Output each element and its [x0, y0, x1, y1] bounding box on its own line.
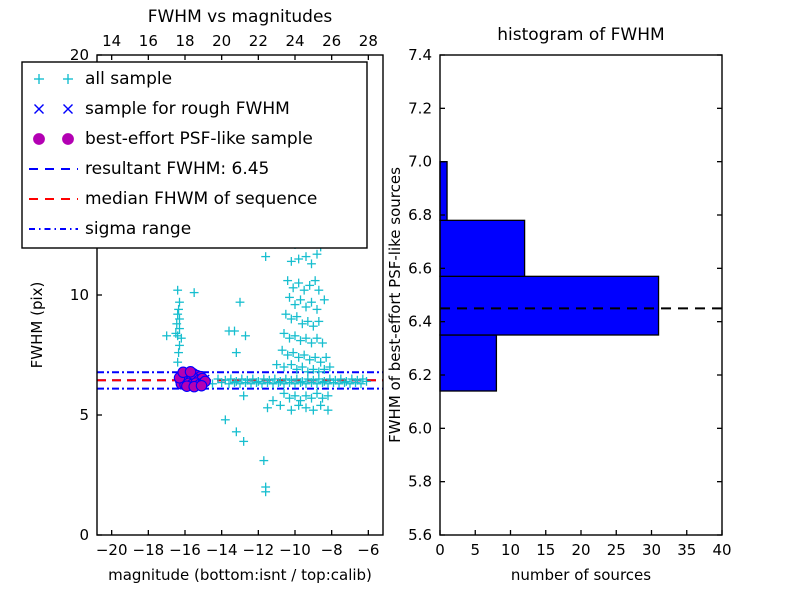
- left-top-xtick-label: 16: [139, 32, 158, 50]
- left-top-xtick-label: 14: [102, 32, 121, 50]
- right-xtick-label: 40: [712, 541, 731, 559]
- legend-item-label: best-effort PSF-like sample: [85, 129, 313, 149]
- marker-plus: [239, 391, 248, 400]
- legend-item-label: sample for rough FWHM: [85, 99, 290, 119]
- marker-plus: [175, 341, 184, 350]
- right-yaxis-label: FWHM of best-effort PSF-like sources: [386, 167, 404, 443]
- left-top-xtick-label: 20: [212, 32, 231, 50]
- right-ytick-label: 6.6: [408, 259, 432, 277]
- marker-plus: [318, 394, 327, 403]
- marker-circle: [185, 367, 195, 377]
- left-plot-area: [97, 207, 383, 497]
- left-xtick-label: −10: [279, 541, 311, 559]
- left-ytick-label: 10: [70, 286, 89, 304]
- marker-plus: [294, 401, 303, 410]
- right-ytick-label: 5.6: [408, 526, 432, 544]
- marker-plus: [241, 331, 250, 340]
- marker-plus: [287, 315, 296, 324]
- matplotlib-figure: FWHM vs magnitudes−20−18−16−14−12−10−8−6…: [0, 0, 800, 600]
- marker-plus: [296, 295, 305, 304]
- marker-plus: [322, 353, 331, 362]
- right-ytick-label: 5.8: [408, 473, 432, 491]
- legend-item-label: all sample: [85, 69, 172, 89]
- marker-plus: [302, 334, 311, 343]
- marker-plus: [302, 391, 311, 400]
- marker-plus: [261, 252, 270, 261]
- marker-plus: [259, 456, 268, 465]
- legend-item-label: median FHWM of sequence: [85, 189, 317, 209]
- right-ytick-label: 7.2: [408, 99, 432, 117]
- left-xtick-label: −6: [357, 541, 379, 559]
- series-best-effort-psf-like-sample: [174, 367, 210, 392]
- marker-plus: [285, 334, 294, 343]
- right-panel-title: histogram of FWHM: [497, 25, 664, 45]
- left-xtick-label: −16: [169, 541, 201, 559]
- legend-marker-circle: [63, 134, 74, 145]
- marker-plus: [272, 360, 281, 369]
- marker-circle: [196, 381, 206, 391]
- marker-plus: [287, 257, 296, 266]
- figure-canvas: FWHM vs magnitudes−20−18−16−14−12−10−8−6…: [0, 0, 800, 600]
- marker-plus: [296, 396, 305, 405]
- legend-item-label: sigma range: [85, 219, 191, 239]
- right-xtick-label: 10: [501, 541, 520, 559]
- marker-plus: [285, 293, 294, 302]
- marker-plus: [291, 331, 300, 340]
- marker-plus: [280, 329, 289, 338]
- marker-plus: [302, 303, 311, 312]
- left-xaxis-label: magnitude (bottom:isnt / top:calib): [108, 566, 372, 584]
- legend-marker-circle: [34, 134, 45, 145]
- marker-plus: [291, 300, 300, 309]
- marker-plus: [283, 351, 292, 360]
- marker-plus: [307, 298, 316, 307]
- left-yaxis-label: FWHM (pix): [28, 282, 46, 369]
- marker-plus: [307, 339, 316, 348]
- marker-plus: [190, 288, 199, 297]
- marker-plus: [324, 391, 333, 400]
- right-xtick-label: 15: [536, 541, 555, 559]
- marker-plus: [303, 317, 312, 326]
- marker-plus: [232, 427, 241, 436]
- marker-plus: [298, 363, 307, 372]
- marker-plus: [307, 394, 316, 403]
- right-ytick-label: 7.4: [408, 46, 432, 64]
- marker-plus: [307, 259, 316, 268]
- left-xtick-label: −12: [243, 541, 275, 559]
- right-xtick-label: 20: [571, 541, 590, 559]
- left-top-xtick-label: 26: [322, 32, 341, 50]
- marker-plus: [298, 319, 307, 328]
- left-top-xtick-label: 24: [285, 32, 304, 50]
- right-xtick-label: 5: [470, 541, 480, 559]
- right-xtick-label: 30: [642, 541, 661, 559]
- left-ytick-label: 5: [79, 406, 89, 424]
- legend: all samplesample for rough FWHMbest-effo…: [22, 62, 367, 248]
- right-xtick-label: 0: [435, 541, 445, 559]
- marker-plus: [294, 255, 303, 264]
- right-ytick-label: 7.0: [408, 153, 432, 171]
- left-top-xtick-label: 28: [359, 32, 378, 50]
- marker-plus: [305, 281, 314, 290]
- marker-plus: [280, 363, 289, 372]
- histogram-bar: [440, 335, 496, 391]
- marker-plus: [280, 389, 289, 398]
- marker-plus: [318, 339, 327, 348]
- marker-plus: [309, 406, 318, 415]
- marker-plus: [162, 331, 171, 340]
- right-ytick-label: 6.4: [408, 313, 432, 331]
- marker-plus: [173, 286, 182, 295]
- right-xtick-label: 35: [677, 541, 696, 559]
- marker-plus: [230, 327, 239, 336]
- marker-plus: [302, 252, 311, 261]
- legend-item-label: resultant FWHM: 6.45: [85, 159, 269, 179]
- marker-plus: [291, 391, 300, 400]
- right-panel-histogram: histogram of FWHM0510152025303540number …: [386, 25, 732, 584]
- right-xaxis-label: number of sources: [511, 566, 651, 584]
- legend-box: [22, 62, 367, 248]
- marker-plus: [314, 317, 323, 326]
- marker-plus: [311, 353, 320, 362]
- right-ytick-label: 6.8: [408, 206, 432, 224]
- marker-plus: [263, 403, 272, 412]
- left-xtick-label: −20: [96, 541, 128, 559]
- histogram-bar: [440, 220, 525, 276]
- right-xtick-label: 25: [607, 541, 626, 559]
- marker-plus: [269, 396, 278, 405]
- marker-plus: [296, 336, 305, 345]
- marker-plus: [302, 403, 311, 412]
- marker-plus: [294, 353, 303, 362]
- marker-plus: [294, 279, 303, 288]
- left-xtick-label: −14: [206, 541, 238, 559]
- marker-plus: [289, 348, 298, 357]
- left-panel-title: FWHM vs magnitudes: [148, 7, 333, 27]
- histogram-bar: [440, 276, 659, 335]
- marker-plus: [174, 348, 183, 357]
- marker-plus: [320, 295, 329, 304]
- marker-plus: [278, 346, 287, 355]
- marker-plus: [173, 310, 182, 319]
- marker-plus: [281, 310, 290, 319]
- marker-plus: [305, 355, 314, 364]
- marker-plus: [283, 276, 292, 285]
- marker-plus: [239, 437, 248, 446]
- marker-plus: [311, 276, 320, 285]
- right-ytick-label: 6.0: [408, 419, 432, 437]
- marker-plus: [221, 415, 230, 424]
- right-ytick-label: 6.2: [408, 366, 432, 384]
- marker-plus: [314, 286, 323, 295]
- marker-plus: [289, 283, 298, 292]
- marker-plus: [287, 360, 296, 369]
- series-all-sample: [162, 207, 371, 497]
- marker-plus: [316, 401, 325, 410]
- marker-plus: [236, 298, 245, 307]
- marker-plus: [292, 312, 301, 321]
- left-ytick-label: 0: [79, 526, 89, 544]
- left-xtick-label: −18: [133, 541, 165, 559]
- marker-plus: [325, 363, 334, 372]
- left-xtick-label: −8: [321, 541, 343, 559]
- marker-plus: [287, 406, 296, 415]
- marker-plus: [324, 406, 333, 415]
- marker-plus: [313, 389, 322, 398]
- left-top-xtick-label: 22: [249, 32, 268, 50]
- marker-plus: [173, 358, 182, 367]
- marker-plus: [300, 351, 309, 360]
- marker-plus: [276, 401, 285, 410]
- marker-plus: [313, 305, 322, 314]
- marker-plus: [313, 334, 322, 343]
- marker-plus: [285, 394, 294, 403]
- marker-plus: [175, 298, 184, 307]
- marker-plus: [232, 348, 241, 357]
- marker-plus: [174, 305, 183, 314]
- left-top-xtick-label: 18: [175, 32, 194, 50]
- marker-plus: [309, 322, 318, 331]
- marker-plus: [261, 487, 270, 496]
- histogram-bar: [440, 162, 447, 221]
- marker-plus: [300, 286, 309, 295]
